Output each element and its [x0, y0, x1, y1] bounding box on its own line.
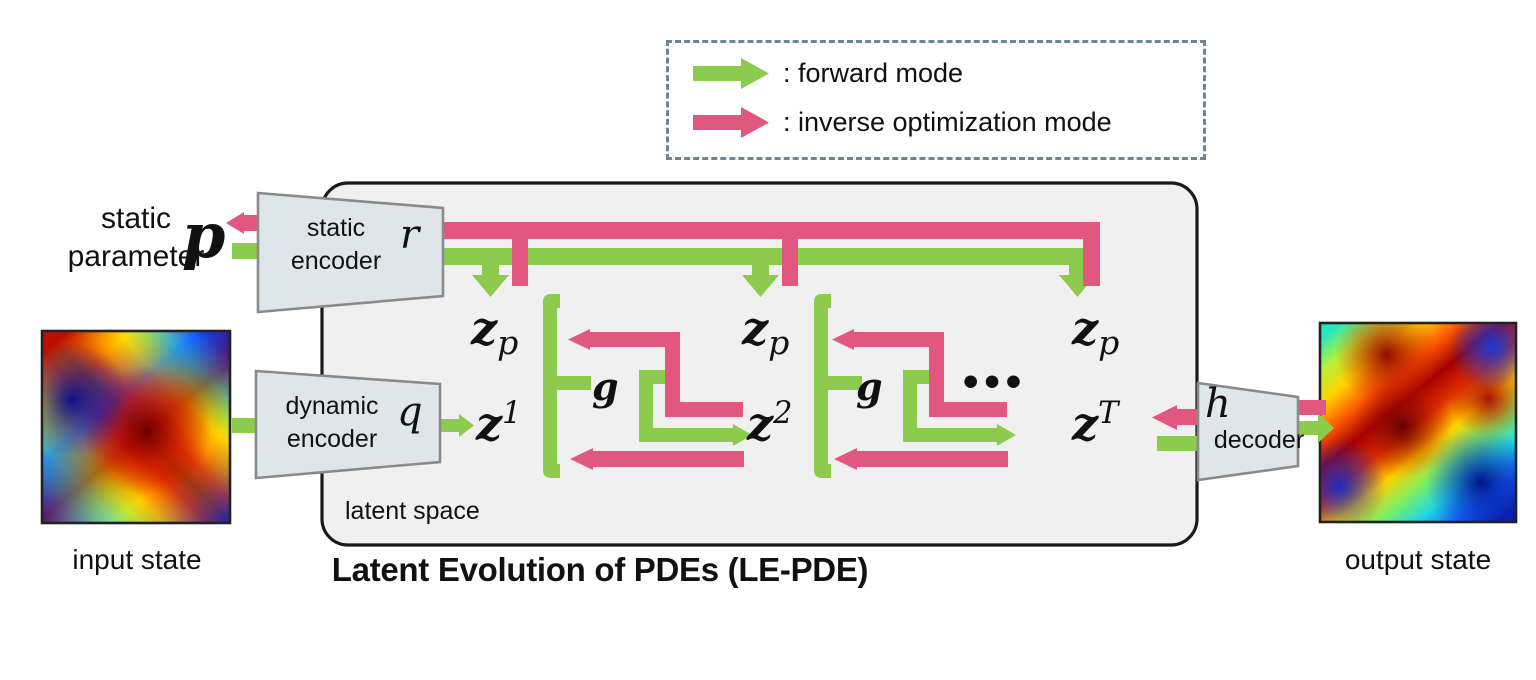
- dynamic-encoder-line1: dynamic: [258, 390, 406, 423]
- output-state-caption: output state: [1318, 546, 1518, 574]
- zp-base-1: z: [471, 301, 497, 355]
- zp-sub-1: p: [497, 323, 518, 362]
- latent-zp-step2: zp: [742, 305, 789, 359]
- z-sup-1: 1: [502, 396, 521, 431]
- inverse-arrow-icon: [693, 105, 771, 139]
- z-base-3: z: [1072, 396, 1098, 450]
- zp-base-3: z: [1072, 301, 1098, 355]
- output-state-image: [1320, 323, 1516, 522]
- legend-label-inverse: : inverse optimization mode: [783, 107, 1112, 138]
- legend-label-forward: : forward mode: [783, 58, 963, 89]
- z-sup-2: 2: [773, 396, 792, 431]
- decoder-label: decoder: [1203, 424, 1315, 457]
- static-encoder-label: static encoder: [266, 212, 406, 277]
- zp-sub-2: p: [768, 323, 789, 362]
- input-state-image: [42, 331, 230, 523]
- decoder-symbol: h: [1205, 384, 1231, 424]
- static-encoder-line2: encoder: [266, 245, 406, 278]
- static-encoder-line1: static: [266, 212, 406, 245]
- latent-space-label: latent space: [345, 499, 480, 524]
- z-base-1: z: [476, 396, 502, 450]
- latent-z-step1: z1: [476, 399, 521, 446]
- dynamic-encoder-label: dynamic encoder: [258, 390, 406, 455]
- static-encoder-symbol: r: [400, 215, 419, 255]
- legend-item-inverse: : inverse optimization mode: [693, 100, 1112, 144]
- ellipsis: •••: [963, 360, 1027, 404]
- static-parameter-symbol: p: [182, 205, 225, 267]
- zp-base-2: z: [742, 301, 768, 355]
- dynamic-encoder-line2: encoder: [258, 423, 406, 456]
- z-sup-3: T: [1098, 396, 1118, 431]
- diagram-canvas: : forward mode : inverse optimization mo…: [0, 0, 1536, 680]
- dynamic-encoder-symbol: q: [397, 392, 423, 432]
- latent-z-step2: z2: [747, 399, 792, 446]
- latent-z-stepT: zT: [1072, 399, 1118, 446]
- latent-zp-stepT: zp: [1072, 305, 1119, 359]
- legend: : forward mode : inverse optimization mo…: [666, 40, 1206, 160]
- zp-sub-3: p: [1098, 323, 1119, 362]
- latent-zp-step1: zp: [471, 305, 518, 359]
- latent-evolution-g-1: g: [592, 368, 619, 406]
- input-state-caption: input state: [42, 546, 232, 574]
- forward-arrow-icon: [693, 56, 771, 90]
- latent-evolution-g-2: g: [856, 368, 883, 406]
- legend-item-forward: : forward mode: [693, 51, 963, 95]
- z-base-2: z: [747, 396, 773, 450]
